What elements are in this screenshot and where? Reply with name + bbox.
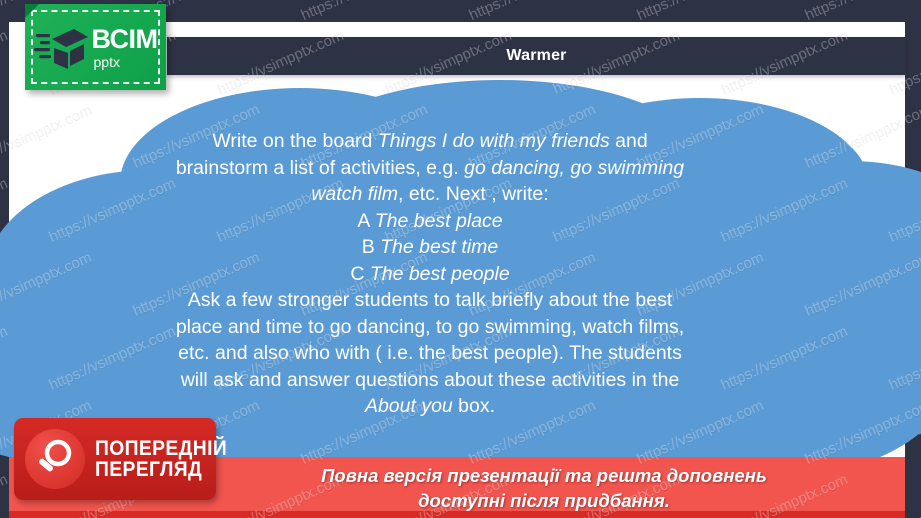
- slide-body-text: Write on the board Things I do with my f…: [130, 128, 730, 420]
- slide-title-bar: Warmer: [167, 37, 906, 75]
- slide-body-line: B The best time: [130, 234, 730, 261]
- logo-subtitle: pptx: [94, 55, 120, 69]
- logo-name: ВСІМ: [92, 26, 158, 53]
- preview-badge-line-2: ПЕРЕГЛЯД: [95, 459, 227, 480]
- page-title: Warmer: [506, 47, 566, 65]
- slide-body-line: brainstorm a list of activities, e.g. go…: [130, 155, 730, 182]
- purchase-notice-text: Повна версія презентації та решта доповн…: [224, 463, 864, 513]
- slide-body-line: Write on the board Things I do with my f…: [130, 128, 730, 155]
- slide-body-line: About you box.: [130, 393, 730, 420]
- graduation-cap-icon: [34, 23, 88, 71]
- slide-body-line: will ask and answer questions about thes…: [130, 367, 730, 394]
- purchase-notice-line-2: доступні після придбання.: [224, 488, 864, 513]
- banner-bottom-stripe: [9, 511, 905, 518]
- logo-fold-corner: [25, 4, 39, 18]
- slide-body-line: place and time to go dancing, to go swim…: [130, 314, 730, 341]
- presentation-slide: Write on the board Things I do with my f…: [0, 0, 921, 518]
- slide-body-line: etc. and also who with ( i.e. the best p…: [130, 340, 730, 367]
- magnifier-icon: [25, 429, 85, 489]
- slide-body-line: C The best people: [130, 261, 730, 288]
- preview-badge-line-1: ПОПЕРЕДНІЙ: [95, 438, 227, 459]
- purchase-notice-line-1: Повна версія презентації та решта доповн…: [224, 463, 864, 488]
- preview-badge[interactable]: ПОПЕРЕДНІЙ ПЕРЕГЛЯД: [14, 418, 216, 500]
- slide-body-line: watch film, etc. Next , write:: [130, 181, 730, 208]
- slide-body-line: A The best place: [130, 208, 730, 235]
- slide-body-line: Ask a few stronger students to talk brie…: [130, 287, 730, 314]
- vsimpptx-logo[interactable]: ВСІМ pptx: [25, 4, 166, 90]
